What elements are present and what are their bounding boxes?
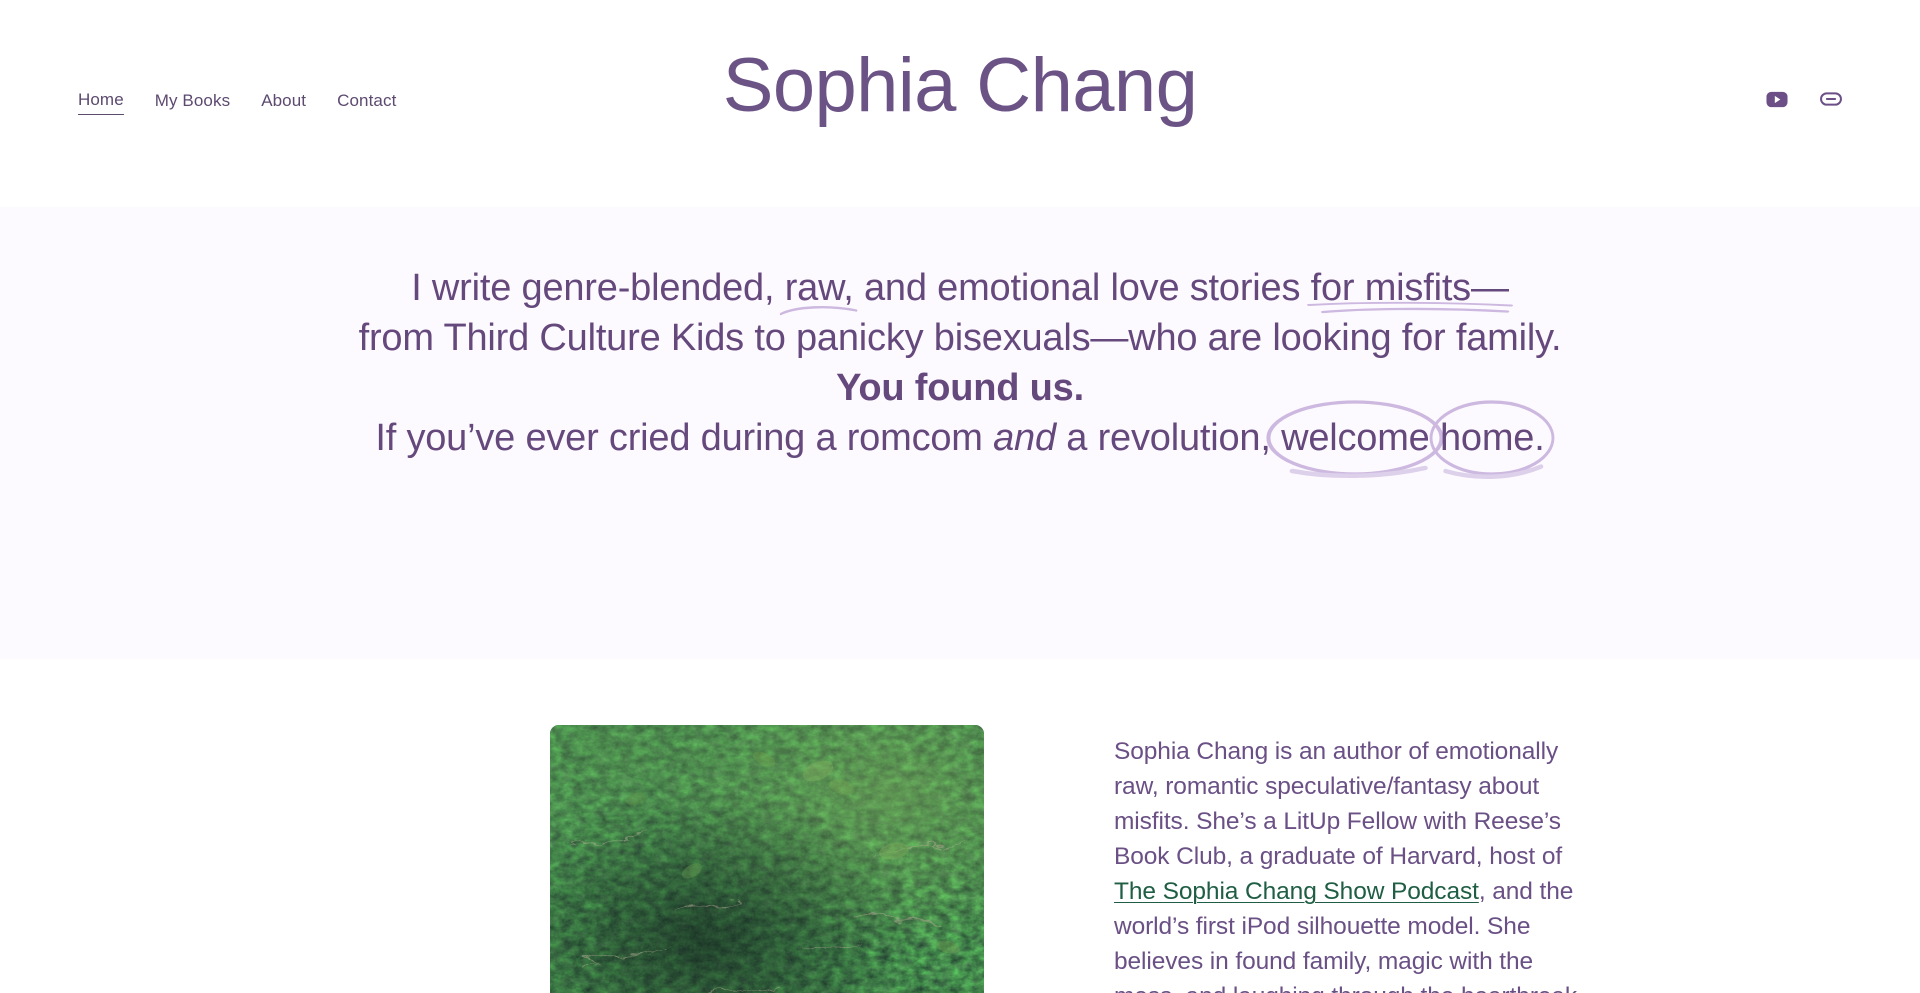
link-icon[interactable]: [1820, 88, 1842, 110]
youtube-icon[interactable]: [1766, 88, 1788, 110]
hero-emphasis-for-misfits: for misfits—: [1311, 263, 1509, 313]
hero-line1-part-a: I write genre-blended,: [411, 267, 785, 309]
hero-line4-space: [1430, 417, 1440, 459]
nav-item-my-books[interactable]: My Books: [155, 91, 230, 115]
hero-emphasis-for-misfits-text: for misfits—: [1311, 267, 1509, 309]
hero-inner: I write genre-blended, raw, and emotiona…: [315, 263, 1605, 463]
author-photo: [550, 725, 984, 993]
site-header: Home My Books About Contact Sophia Chang: [0, 0, 1920, 207]
hero-emphasis-home-text: home.: [1440, 417, 1545, 459]
hero-line4-italic-and: and: [993, 417, 1056, 459]
hero-line2: from Third Culture Kids to panicky bisex…: [359, 317, 1562, 359]
hedge-foliage-image: [550, 725, 984, 993]
hero-emphasis-welcome: welcome: [1281, 413, 1430, 463]
hero-emphasis-home: home.: [1440, 413, 1545, 463]
nav-item-about[interactable]: About: [261, 91, 306, 115]
hero-line4-part-a: If you’ve ever cried during a romcom: [375, 417, 993, 459]
about-inner: Sophia Chang is an author of emotionally…: [250, 725, 1670, 993]
about-section: Sophia Chang is an author of emotionally…: [0, 659, 1920, 993]
hero-emphasis-welcome-text: welcome: [1281, 417, 1430, 459]
podcast-link[interactable]: The Sophia Chang Show Podcast: [1114, 878, 1479, 905]
hero-line4-part-b: a revolution,: [1056, 417, 1281, 459]
about-photo-wrapper: [550, 725, 984, 993]
hero-line1-part-b: and emotional love stories: [854, 267, 1311, 309]
hero-section: I write genre-blended, raw, and emotiona…: [0, 207, 1920, 659]
about-bio: Sophia Chang is an author of emotionally…: [1114, 725, 1592, 993]
hero-emphasis-raw-text: raw,: [785, 267, 854, 309]
bio-text-part-1: Sophia Chang is an author of emotionally…: [1114, 738, 1562, 870]
hero-statement: I write genre-blended, raw, and emotiona…: [355, 263, 1565, 463]
hero-emphasis-raw: raw,: [785, 263, 854, 313]
nav-item-contact[interactable]: Contact: [337, 91, 396, 115]
social-links: [1766, 88, 1842, 110]
bio-paragraph: Sophia Chang is an author of emotionally…: [1114, 734, 1592, 993]
nav-item-home[interactable]: Home: [78, 90, 124, 115]
primary-navigation: Home My Books About Contact: [78, 90, 396, 115]
hero-line3-bold: You found us.: [836, 367, 1084, 409]
